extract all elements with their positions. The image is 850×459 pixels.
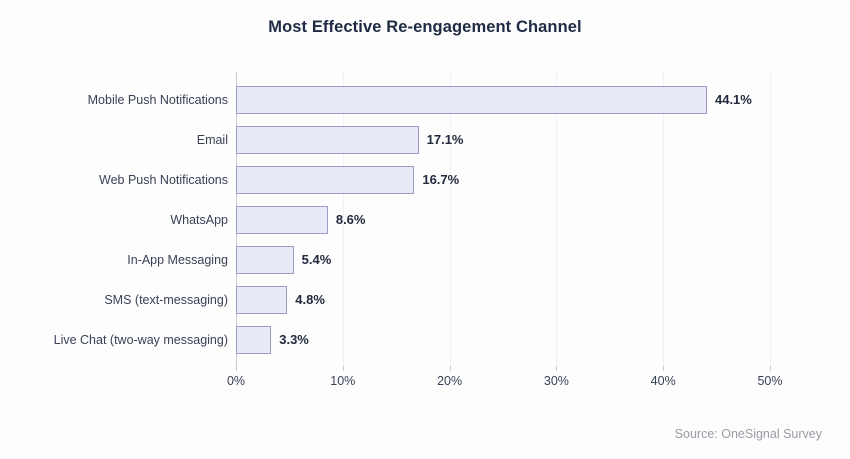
x-tick-mark [770, 366, 771, 371]
x-tick-mark [663, 366, 664, 371]
bar-series: 44.1%17.1%16.7%8.6%5.4%4.8%3.3% [236, 72, 770, 366]
category-label: Web Push Notifications [99, 166, 228, 194]
x-tick-label: 30% [544, 374, 569, 388]
bar-row[interactable]: 16.7% [236, 166, 770, 194]
value-axis-ticks: 0%10%20%30%40%50% [236, 366, 770, 392]
bar-value-label: 3.3% [279, 326, 309, 354]
gridline [770, 72, 771, 366]
bar-value-label: 16.7% [422, 166, 459, 194]
x-tick-mark [343, 366, 344, 371]
category-label: Email [197, 126, 228, 154]
bar[interactable] [236, 126, 419, 154]
bar-row[interactable]: 4.8% [236, 286, 770, 314]
bar-row[interactable]: 3.3% [236, 326, 770, 354]
plot-area: 44.1%17.1%16.7%8.6%5.4%4.8%3.3% [236, 72, 770, 366]
category-label: SMS (text-messaging) [104, 286, 228, 314]
x-tick-label: 50% [757, 374, 782, 388]
bar-value-label: 8.6% [336, 206, 366, 234]
category-label: WhatsApp [170, 206, 228, 234]
x-tick-label: 20% [437, 374, 462, 388]
x-tick-mark [236, 366, 237, 371]
bar-row[interactable]: 17.1% [236, 126, 770, 154]
bar-value-label: 17.1% [427, 126, 464, 154]
bar[interactable] [236, 166, 414, 194]
bar[interactable] [236, 286, 287, 314]
bar[interactable] [236, 326, 271, 354]
bar-value-label: 4.8% [295, 286, 325, 314]
bar-value-label: 44.1% [715, 86, 752, 114]
chart-container: Most Effective Re-engagement Channel Mob… [0, 0, 850, 459]
chart-title: Most Effective Re-engagement Channel [0, 18, 850, 37]
category-label: Mobile Push Notifications [88, 86, 228, 114]
category-label: Live Chat (two-way messaging) [54, 326, 228, 354]
category-axis-labels: Mobile Push NotificationsEmailWeb Push N… [0, 72, 228, 366]
x-tick-label: 0% [227, 374, 245, 388]
bar[interactable] [236, 206, 328, 234]
x-tick-label: 10% [330, 374, 355, 388]
bar-value-label: 5.4% [302, 246, 332, 274]
source-note: Source: OneSignal Survey [675, 427, 822, 441]
category-label: In-App Messaging [127, 246, 228, 274]
bar-row[interactable]: 8.6% [236, 206, 770, 234]
x-tick-mark [450, 366, 451, 371]
bar-row[interactable]: 5.4% [236, 246, 770, 274]
x-tick-label: 40% [651, 374, 676, 388]
x-tick-mark [556, 366, 557, 371]
bar[interactable] [236, 246, 294, 274]
bar[interactable] [236, 86, 707, 114]
bar-row[interactable]: 44.1% [236, 86, 770, 114]
